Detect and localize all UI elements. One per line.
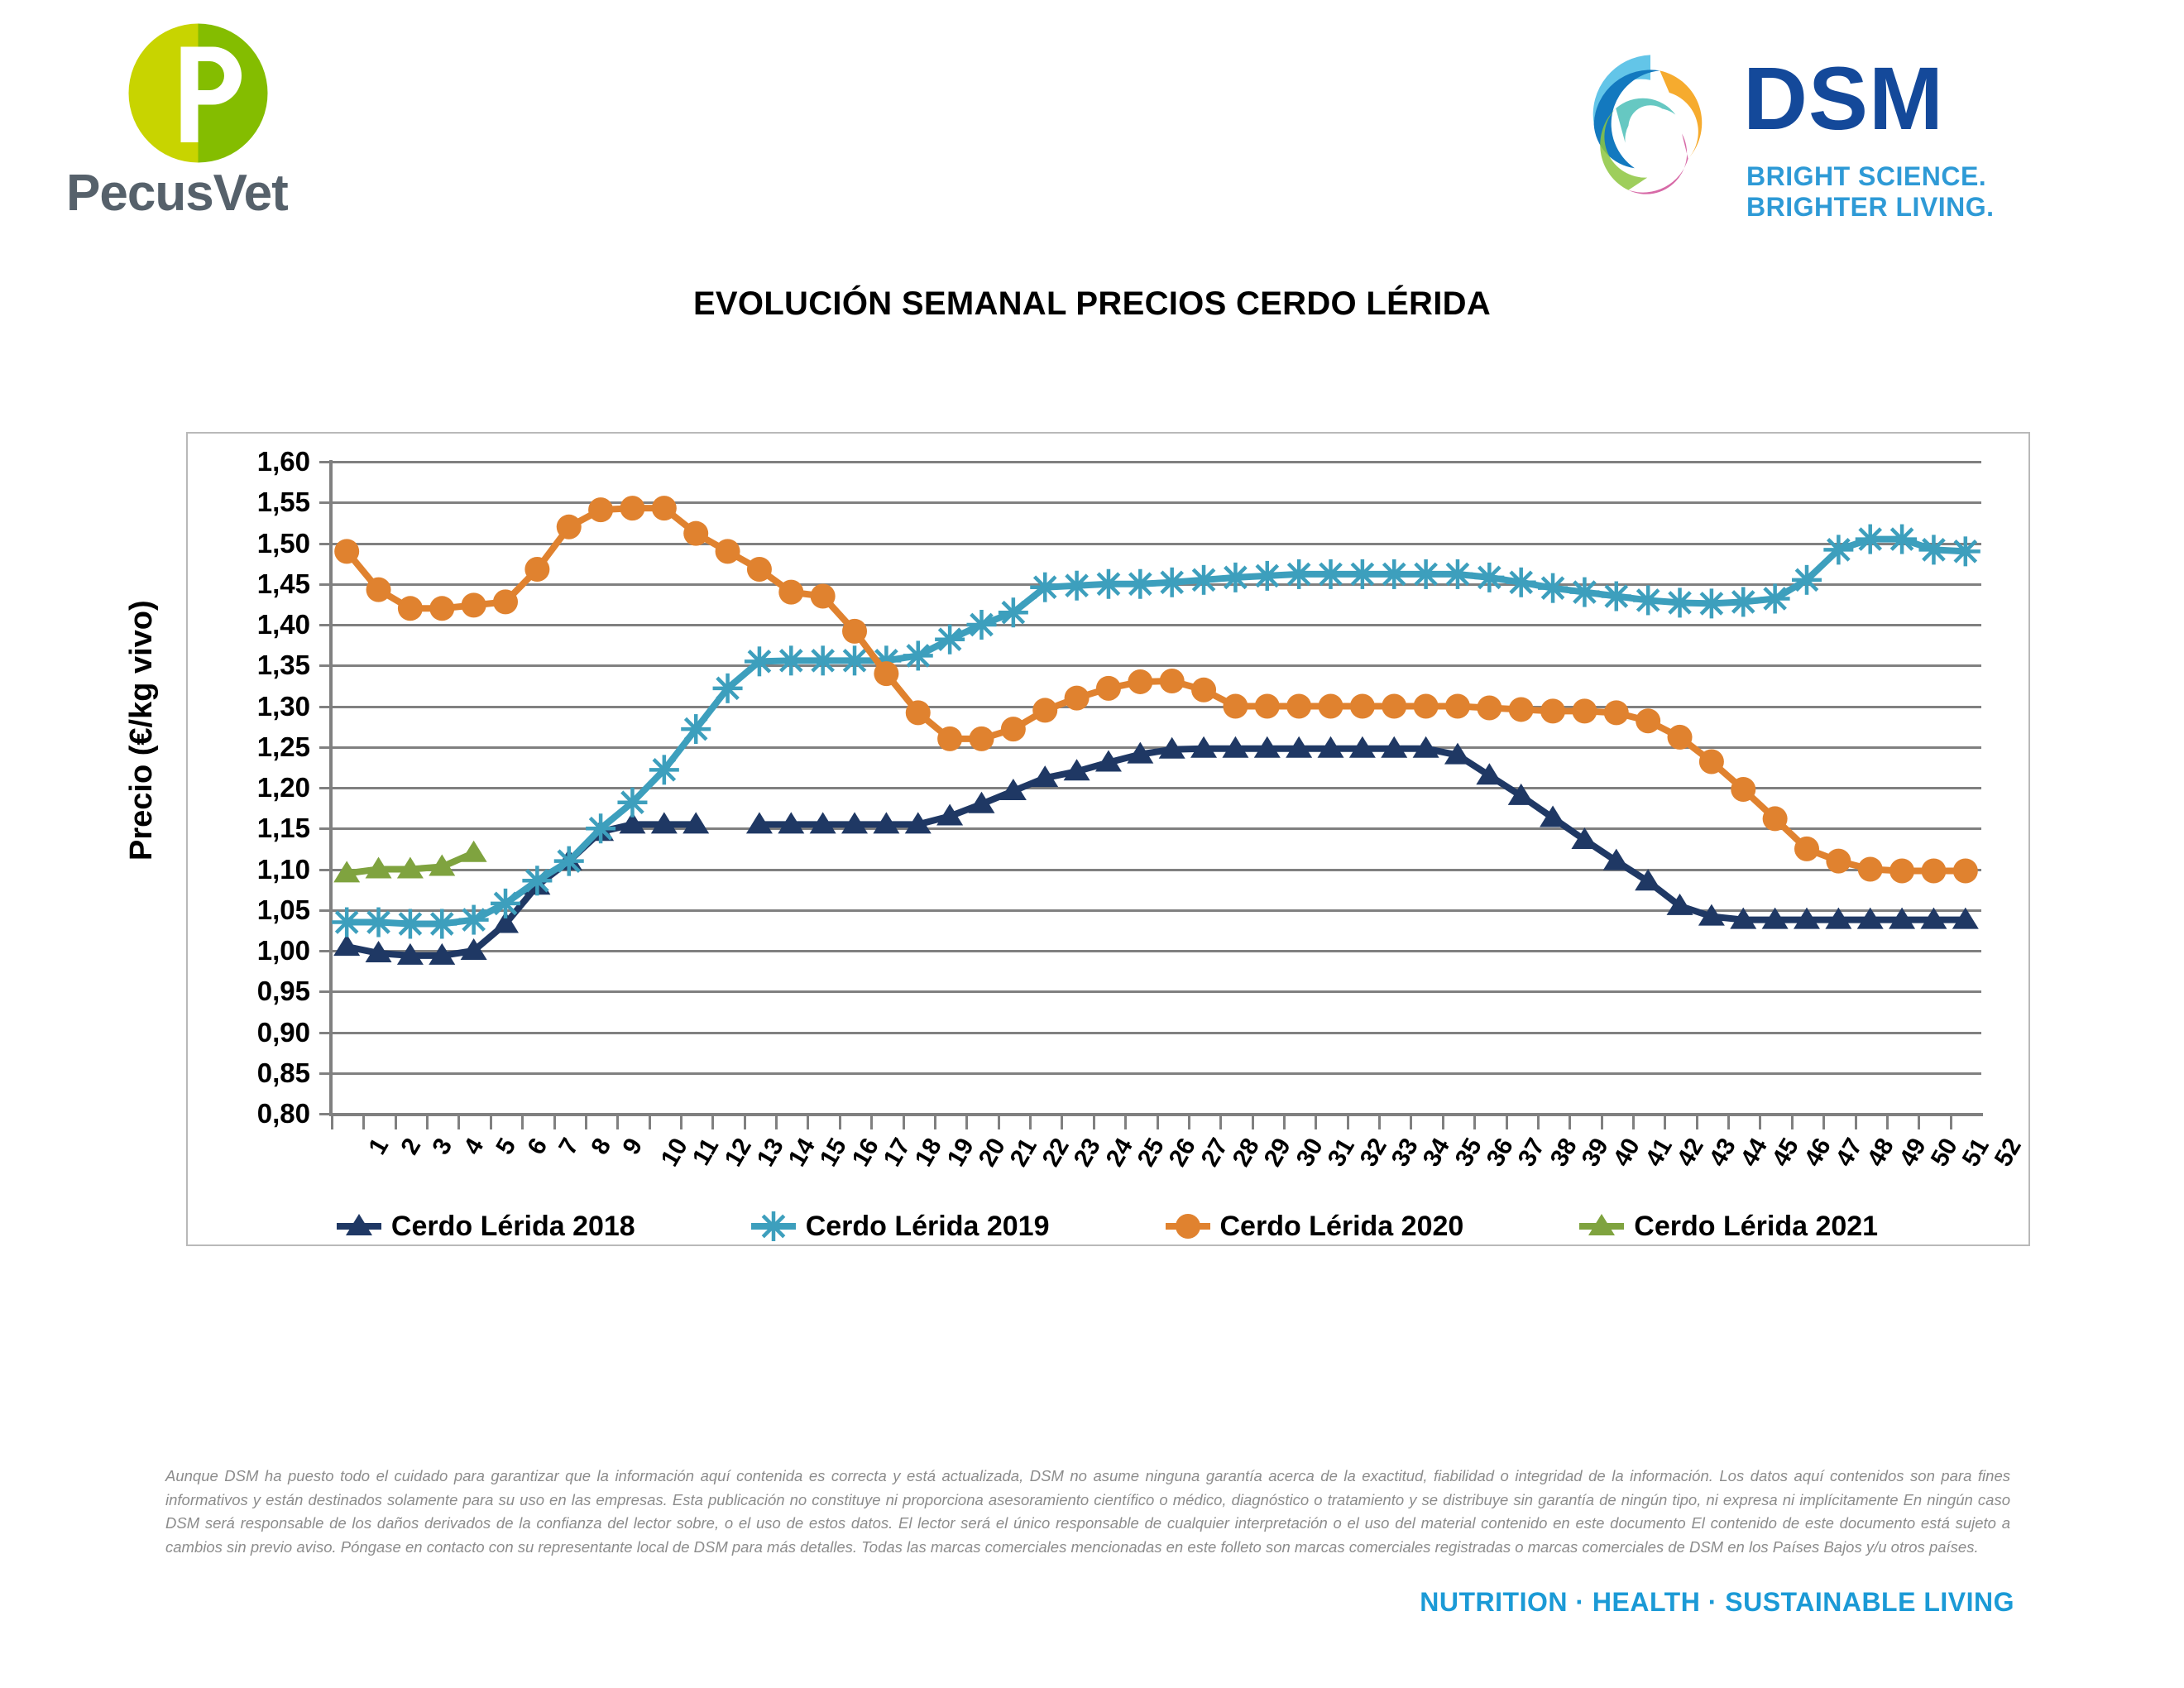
y-tick-label: 0,85 (170, 1057, 310, 1089)
y-tick-label: 1,10 (170, 854, 310, 885)
gridline (331, 501, 1981, 504)
legend-item[interactable]: Cerdo Lérida 2018 (335, 1209, 635, 1244)
y-tick-mark (319, 827, 331, 830)
x-tick-mark (616, 1116, 619, 1129)
y-tick-mark (319, 1032, 331, 1034)
x-tick-mark (903, 1116, 905, 1129)
x-tick-mark (1378, 1116, 1381, 1129)
y-tick-label: 1,00 (170, 935, 310, 966)
x-tick-mark (490, 1116, 492, 1129)
y-tick-label: 1,45 (170, 568, 310, 600)
x-tick-mark (1886, 1116, 1889, 1129)
x-tick-mark (1537, 1116, 1540, 1129)
x-tick-mark (744, 1116, 746, 1129)
legend-marker-icon (1578, 1209, 1626, 1244)
dsm-tagline: BRIGHT SCIENCE. BRIGHTER LIVING. (1746, 161, 2097, 223)
legend-label: Cerdo Lérida 2020 (1220, 1211, 1464, 1243)
x-tick-mark (1283, 1116, 1286, 1129)
x-tick-mark (426, 1116, 429, 1129)
x-tick-mark (362, 1116, 365, 1129)
x-tick-mark (680, 1116, 682, 1129)
x-tick-mark (1822, 1116, 1825, 1129)
y-tick-label: 1,40 (170, 609, 310, 640)
x-tick-mark (1315, 1116, 1317, 1129)
dsm-wordmark: DSM (1743, 54, 1944, 143)
x-tick-mark (1506, 1116, 1508, 1129)
y-tick-label: 1,35 (170, 650, 310, 681)
gridline (331, 1032, 1981, 1034)
x-tick-mark (1347, 1116, 1349, 1129)
pecusvet-logo: PecusVet (66, 17, 339, 228)
x-tick-mark (1664, 1116, 1666, 1129)
x-tick-mark (1918, 1116, 1920, 1129)
legend-item[interactable]: Cerdo Lérida 2021 (1578, 1209, 1878, 1244)
y-tick-label: 1,25 (170, 731, 310, 763)
x-tick-mark (1219, 1116, 1222, 1129)
x-tick-mark (1252, 1116, 1254, 1129)
x-tick-mark (965, 1116, 968, 1129)
x-tick-mark (1632, 1116, 1635, 1129)
gridline (331, 706, 1981, 708)
x-tick-mark (1061, 1116, 1063, 1129)
legend-marker-icon (335, 1209, 383, 1244)
x-tick-mark (711, 1116, 714, 1129)
y-tick-mark (319, 746, 331, 749)
legend-marker-icon (750, 1209, 797, 1244)
x-tick-mark (1093, 1116, 1095, 1129)
gridline (331, 990, 1981, 993)
x-tick-mark (1029, 1116, 1032, 1129)
x-tick-mark (998, 1116, 1000, 1129)
legend-label: Cerdo Lérida 2019 (806, 1211, 1050, 1243)
y-tick-mark (319, 950, 331, 952)
gridline (331, 787, 1981, 789)
x-tick-mark (839, 1116, 841, 1129)
y-tick-label: 0,95 (170, 976, 310, 1007)
legend-item[interactable]: Cerdo Lérida 2020 (1164, 1209, 1464, 1244)
x-tick-mark (1442, 1116, 1444, 1129)
y-tick-mark (319, 583, 331, 586)
y-tick-label: 1,05 (170, 894, 310, 926)
gridline (331, 909, 1981, 912)
y-tick-mark (319, 869, 331, 871)
x-tick-mark (1855, 1116, 1857, 1129)
y-tick-label: 1,50 (170, 528, 310, 559)
gridline (331, 827, 1981, 830)
x-tick-mark (1759, 1116, 1761, 1129)
x-tick-mark (1601, 1116, 1603, 1129)
pecusvet-mark-icon (126, 21, 271, 165)
gridline (331, 1113, 1981, 1115)
x-tick-mark (331, 1116, 333, 1129)
x-tick-mark (1188, 1116, 1190, 1129)
dsm-swirl-icon (1568, 46, 1733, 203)
y-tick-mark (319, 664, 331, 667)
gridline (331, 869, 1981, 871)
disclaimer-text: Aunque DSM ha puesto todo el cuidado par… (165, 1465, 2010, 1560)
y-tick-mark (319, 543, 331, 545)
legend-marker-icon (1164, 1209, 1212, 1244)
x-tick-mark (457, 1116, 460, 1129)
y-tick-label: 0,80 (170, 1098, 310, 1129)
chart-container (186, 432, 2030, 1246)
x-tick-mark (1791, 1116, 1794, 1129)
x-tick-mark (1124, 1116, 1127, 1129)
x-tick-mark (1950, 1116, 1952, 1129)
y-tick-mark (319, 461, 331, 463)
x-tick-mark (395, 1116, 397, 1129)
gridline (331, 664, 1981, 667)
x-tick-mark (1157, 1116, 1159, 1129)
gridline (331, 746, 1981, 749)
footer-tagline: NUTRITION · HEALTH · SUSTAINABLE LIVING (1420, 1587, 2014, 1618)
y-tick-label: 1,30 (170, 691, 310, 722)
gridline (331, 1072, 1981, 1075)
pecusvet-wordmark: PecusVet (66, 164, 339, 223)
y-axis-title: Precio (€/kg vivo) (124, 600, 160, 861)
x-tick-mark (807, 1116, 809, 1129)
y-tick-mark (319, 787, 331, 789)
y-tick-mark (319, 624, 331, 626)
x-tick-mark (870, 1116, 873, 1129)
x-tick-mark (521, 1116, 524, 1129)
legend-label: Cerdo Lérida 2018 (391, 1211, 635, 1243)
dsm-logo: DSM BRIGHT SCIENCE. BRIGHTER LIVING. (1568, 37, 2097, 211)
x-tick-mark (1696, 1116, 1698, 1129)
x-tick-mark (1473, 1116, 1476, 1129)
x-tick-mark (775, 1116, 778, 1129)
y-tick-mark (319, 501, 331, 504)
chart-title: EVOLUCIÓN SEMANAL PRECIOS CERDO LÉRIDA (0, 285, 2184, 323)
y-tick-mark (319, 909, 331, 912)
x-tick-mark (585, 1116, 587, 1129)
gridline (331, 461, 1981, 463)
y-tick-label: 1,55 (170, 487, 310, 518)
x-tick-mark (649, 1116, 651, 1129)
y-tick-label: 1,60 (170, 446, 310, 477)
x-tick-mark (1410, 1116, 1412, 1129)
x-tick-mark (553, 1116, 556, 1129)
y-tick-mark (319, 1072, 331, 1075)
gridline (331, 624, 1981, 626)
y-tick-label: 1,20 (170, 772, 310, 803)
y-tick-mark (319, 1113, 331, 1115)
gridline (331, 950, 1981, 952)
y-tick-mark (319, 706, 331, 708)
chart-legend: Cerdo Lérida 2018Cerdo Lérida 2019Cerdo … (186, 1193, 2027, 1259)
page-header: PecusVet DSM BRIGHT SCIENCE. BRIGHTER LI… (0, 0, 2184, 248)
legend-item[interactable]: Cerdo Lérida 2019 (750, 1209, 1050, 1244)
y-tick-mark (319, 990, 331, 993)
x-tick-mark (934, 1116, 936, 1129)
y-tick-label: 0,90 (170, 1017, 310, 1048)
gridline (331, 543, 1981, 545)
x-tick-mark (1569, 1116, 1571, 1129)
gridline (331, 583, 1981, 586)
y-tick-label: 1,15 (170, 813, 310, 844)
x-tick-mark (1727, 1116, 1730, 1129)
legend-label: Cerdo Lérida 2021 (1634, 1211, 1878, 1243)
